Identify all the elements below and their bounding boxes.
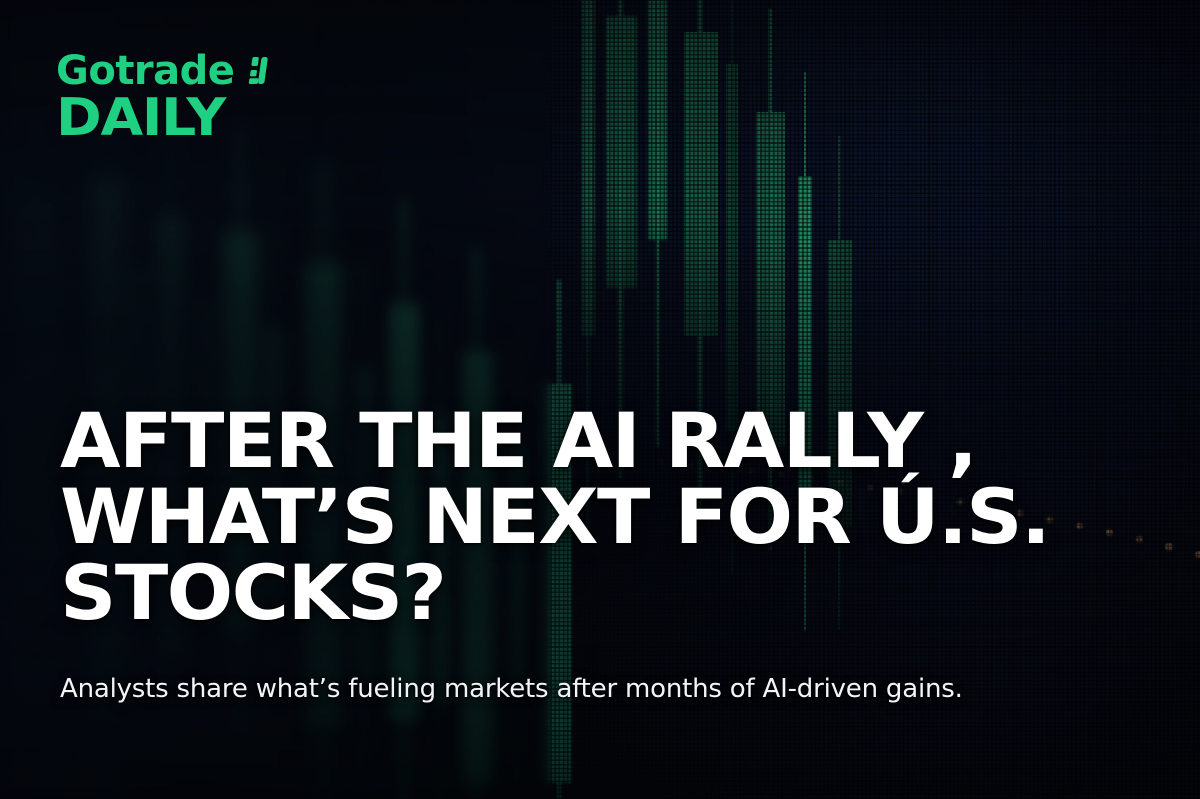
brand-edition-label: DAILY (56, 95, 296, 143)
brand-wordmark: Gotrade (56, 52, 234, 90)
bar-chart-icon (244, 54, 282, 93)
brand-logo-top-row: Gotrade (56, 52, 282, 93)
headline-line-1: AFTER THE AI RALLY , (60, 403, 1131, 479)
page-title: AFTER THE AI RALLY , WHAT’S NEXT FOR Ú.… (60, 403, 1100, 631)
headline-line-3: STOCKS? (60, 555, 1131, 631)
hero-banner: Gotrade DAILY AFTER THE AI RALLY , WHA (0, 0, 1200, 799)
headline-line-2: WHAT’S NEXT FOR Ú.S. (60, 479, 1131, 555)
banner-content: Gotrade DAILY AFTER THE AI RALLY , WHA (0, 0, 1200, 799)
brand-logo[interactable]: Gotrade DAILY (56, 52, 282, 143)
page-subtitle: Analysts share what’s fueling markets af… (60, 674, 1120, 704)
